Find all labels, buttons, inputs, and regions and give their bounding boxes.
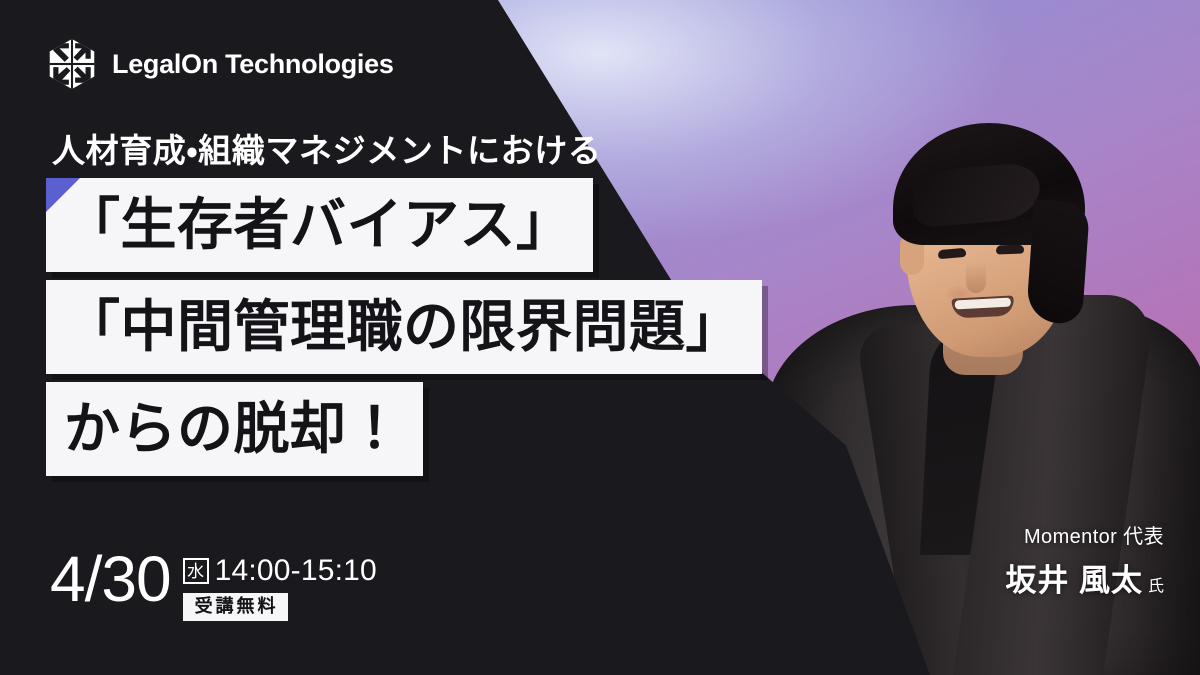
brand-logo: LegalOn Technologies	[46, 38, 394, 90]
portrait-hair-side	[1026, 199, 1090, 325]
speaker-name-row: 坂井 風太氏	[1005, 555, 1164, 600]
webinar-banner: LegalOn Technologies 人材育成・組織マネジメントにおける 「…	[0, 0, 1200, 675]
title-line-2: 「中間管理職の限界問題」	[46, 280, 762, 374]
portrait-nose	[966, 263, 986, 293]
legalon-hexagon-logo-icon	[46, 38, 98, 90]
title-line-3-text: からの脱却！	[64, 397, 403, 460]
schedule-time-row: 水 14:00-15:10	[183, 556, 377, 586]
event-time: 14:00-15:10	[215, 556, 377, 586]
schedule-details: 水 14:00-15:10 受講無料	[183, 548, 377, 621]
portrait-eye-right	[996, 245, 1024, 255]
portrait-teeth	[955, 298, 1011, 310]
event-date: 4/30	[50, 548, 171, 611]
brand-name: LegalOn Technologies	[112, 49, 394, 80]
title-line-3: からの脱却！	[46, 382, 423, 476]
schedule-block: 4/30 水 14:00-15:10 受講無料	[50, 548, 377, 621]
title-line-1-text: 「生存者バイアス」	[64, 193, 573, 256]
subtitle: 人材育成・組織マネジメントにおける	[52, 124, 601, 172]
day-of-week-badge: 水	[183, 558, 209, 584]
speaker-name: 坂井 風太	[1005, 563, 1143, 598]
speaker-organization: Momentor 代表	[1005, 524, 1164, 550]
speaker-info: Momentor 代表 坂井 風太氏	[1005, 524, 1164, 600]
price-badge: 受講無料	[183, 593, 288, 621]
speaker-honorific: 氏	[1148, 578, 1164, 595]
title-line-2-text: 「中間管理職の限界問題」	[64, 295, 742, 358]
title-line-1: 「生存者バイアス」	[46, 178, 593, 272]
title-stack: 「生存者バイアス」 「中間管理職の限界問題」 からの脱却！	[46, 178, 762, 484]
